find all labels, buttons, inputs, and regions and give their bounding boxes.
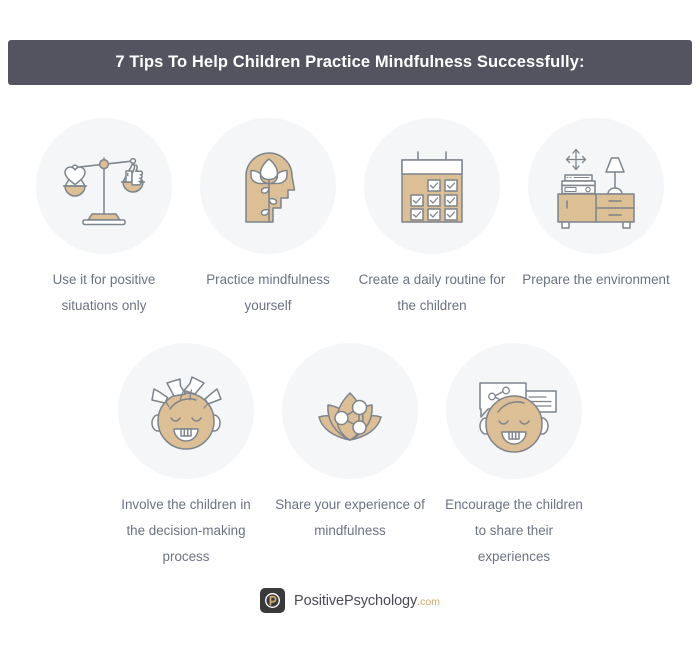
page-title: 7 Tips To Help Children Practice Mindful…: [115, 54, 584, 71]
icon-circle-1: [36, 118, 172, 254]
tips-row-top: Use it for positive situations only: [0, 118, 700, 319]
footer-branding[interactable]: PositivePsychology.com: [0, 588, 700, 613]
tip-caption-2: Practice mindfulness yourself: [193, 267, 343, 319]
child-speech-bubbles-icon: [466, 363, 562, 459]
calendar-checklist-icon: [384, 138, 480, 234]
tip-caption-6: Share your experience of mindfulness: [275, 492, 425, 544]
tip-caption-7: Encourage the children to share their ex…: [439, 492, 589, 570]
logo-p-glyph: [264, 592, 281, 609]
tip-card-4: Prepare the environment: [514, 118, 678, 319]
tip-caption-5: Involve the children in the decision-mak…: [111, 492, 261, 570]
balance-scales-icon: [56, 138, 152, 234]
positivepsychology-logo-icon: [260, 588, 285, 613]
tip-card-3: Create a daily routine for the children: [350, 118, 514, 319]
head-lotus-icon: [220, 138, 316, 234]
icon-circle-6: [282, 343, 418, 479]
tip-caption-1: Use it for positive situations only: [29, 267, 179, 319]
icon-circle-4: [528, 118, 664, 254]
tip-caption-4: Prepare the environment: [521, 267, 671, 293]
icon-circle-7: [446, 343, 582, 479]
icon-circle-2: [200, 118, 336, 254]
brand-wordmark: PositivePsychology.com: [294, 593, 440, 609]
lotus-share-icon: [302, 363, 398, 459]
tip-card-6: Share your experience of mindfulness: [268, 343, 432, 570]
tip-card-1: Use it for positive situations only: [22, 118, 186, 319]
header-bar: 7 Tips To Help Children Practice Mindful…: [8, 40, 692, 85]
tip-card-5: Involve the children in the decision-mak…: [104, 343, 268, 570]
child-arrows-icon: [138, 363, 234, 459]
infographic-root: 7 Tips To Help Children Practice Mindful…: [0, 0, 700, 656]
brand-name: PositivePsychology: [294, 593, 417, 609]
tip-card-2: Practice mindfulness yourself: [186, 118, 350, 319]
sideboard-lamp-icon: [548, 138, 644, 234]
tip-caption-3: Create a daily routine for the children: [357, 267, 507, 319]
icon-circle-5: [118, 343, 254, 479]
tips-row-bottom: Involve the children in the decision-mak…: [0, 343, 700, 570]
icon-circle-3: [364, 118, 500, 254]
tip-card-7: Encourage the children to share their ex…: [432, 343, 596, 570]
brand-tld: .com: [417, 596, 440, 608]
